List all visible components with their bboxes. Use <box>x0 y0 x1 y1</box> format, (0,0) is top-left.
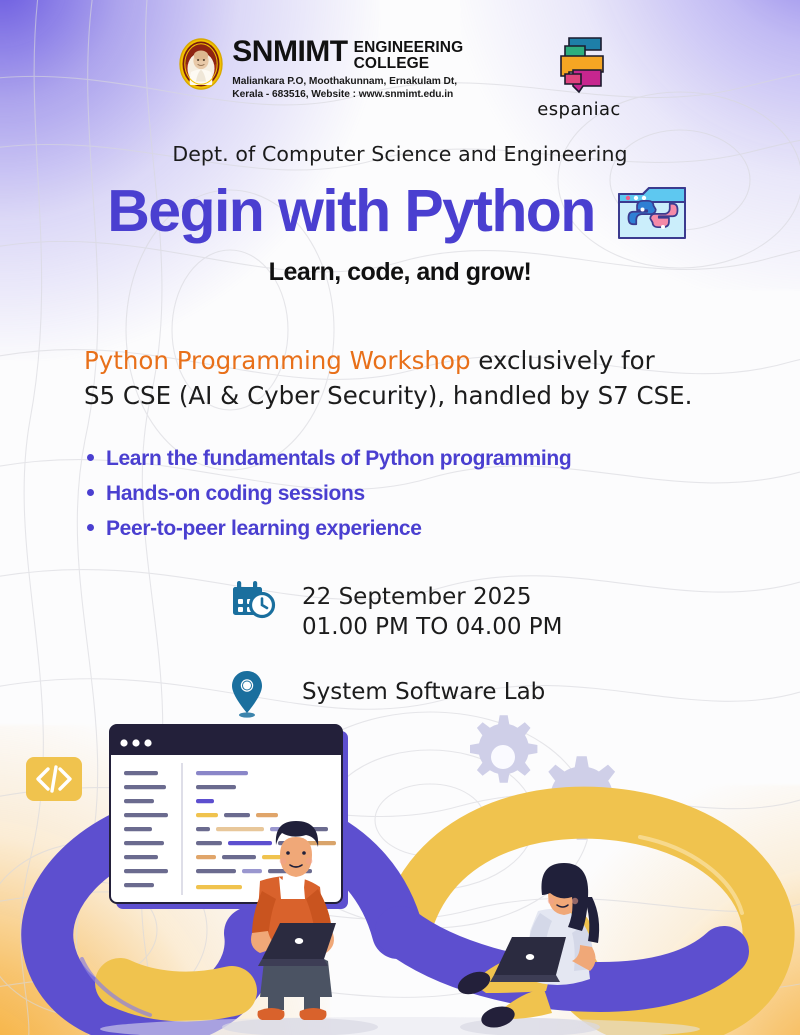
bullet-dot-icon <box>87 489 94 496</box>
code-brackets-badge-icon <box>26 757 82 801</box>
college-kind: ENGINEERING COLLEGE <box>354 38 464 72</box>
list-item: Peer-to-peer learning experience <box>84 518 744 539</box>
poster-header: SNMIMT ENGINEERING COLLEGE Maliankara P.… <box>0 36 800 120</box>
sponsor-identity: espaniac <box>537 34 620 120</box>
bullet-dot-icon <box>87 454 94 461</box>
venue-row: System Software Lab <box>230 669 563 719</box>
college-address-line-2: Kerala - 683516, Website : www.snmimt.ed… <box>232 88 463 101</box>
department-line: Dept. of Computer Science and Engineerin… <box>0 142 800 166</box>
description-line-2: S5 CSE (AI & Cyber Security), handled by… <box>84 381 692 410</box>
college-address: Maliankara P.O, Moothakunnam, Ernakulam … <box>232 75 463 101</box>
list-item-label: Peer-to-peer learning experience <box>106 518 422 539</box>
schedule-text: 22 September 2025 01.00 PM TO 04.00 PM <box>302 578 563 643</box>
description-highlight: Python Programming Workshop <box>84 346 471 375</box>
event-details: 22 September 2025 01.00 PM TO 04.00 PM S… <box>230 578 563 719</box>
college-crest-icon <box>179 38 223 90</box>
event-time: 01.00 PM TO 04.00 PM <box>302 612 563 642</box>
description-paragraph: Python Programming Workshop exclusively … <box>84 344 734 414</box>
gear-icon <box>470 715 537 782</box>
list-item: Learn the fundamentals of Python program… <box>84 448 744 469</box>
tagline: Learn, code, and grow! <box>0 258 800 287</box>
schedule-row: 22 September 2025 01.00 PM TO 04.00 PM <box>230 578 563 643</box>
code-editor-window-icon <box>110 725 348 909</box>
bullet-dot-icon <box>87 524 94 531</box>
event-date: 22 September 2025 <box>302 582 563 612</box>
list-item-label: Learn the fundamentals of Python program… <box>106 448 571 469</box>
venue-text: System Software Lab <box>302 669 545 707</box>
college-kind-line-2: COLLEGE <box>354 56 464 72</box>
benefits-list: Learn the fundamentals of Python program… <box>84 448 744 553</box>
list-item-label: Hands-on coding sessions <box>106 483 365 504</box>
college-abbreviation: SNMIMT <box>232 38 347 67</box>
college-address-line-1: Maliankara P.O, Moothakunnam, Ernakulam … <box>232 75 463 88</box>
location-pin-icon <box>230 669 276 719</box>
college-identity: SNMIMT ENGINEERING COLLEGE Maliankara P.… <box>179 36 463 101</box>
infinity-ribbon-icon <box>120 983 232 997</box>
main-title-row: Begin with Python <box>0 178 800 246</box>
espaniac-stacked-bars-icon <box>539 34 619 96</box>
list-item: Hands-on coding sessions <box>84 483 744 504</box>
college-kind-line-1: ENGINEERING <box>354 40 464 56</box>
python-window-icon <box>613 182 693 246</box>
calendar-clock-icon <box>230 578 276 628</box>
page-title: Begin with Python <box>107 181 594 242</box>
poster-canvas: SNMIMT ENGINEERING COLLEGE Maliankara P.… <box>0 0 800 1035</box>
college-text-block: SNMIMT ENGINEERING COLLEGE Maliankara P.… <box>232 36 463 101</box>
description-rest-line-1: exclusively for <box>471 346 655 375</box>
sponsor-name: espaniac <box>537 99 620 120</box>
workshop-illustration <box>0 715 800 1035</box>
